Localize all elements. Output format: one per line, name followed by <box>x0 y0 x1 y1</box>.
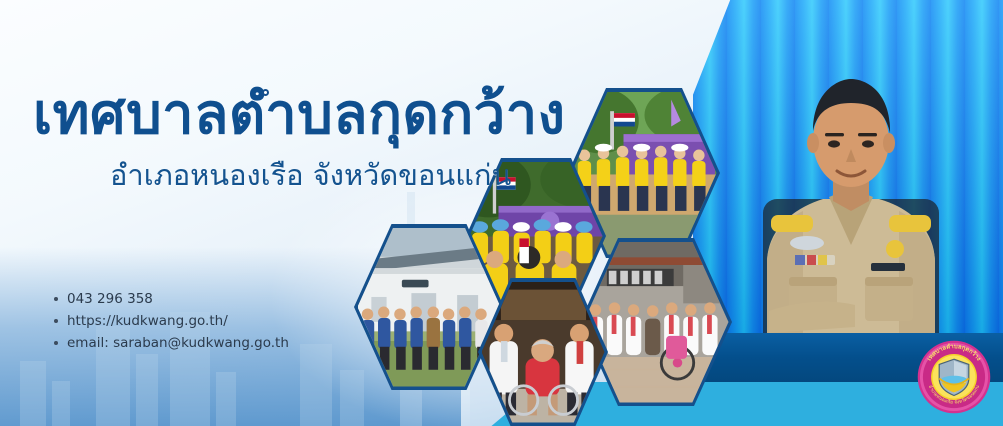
hexagon-photo-collage <box>0 0 1003 426</box>
municipality-seal-logo: เทศบาลตำบลกุดกว้าง อำเภอหนองเรือ จังหวัด… <box>917 340 991 414</box>
hex-photo-right <box>580 238 732 406</box>
decorative-dot-icon <box>262 89 269 96</box>
banner-root: เทศบาลตำบลกุดกว้าง อำเภอหนองเรือ จังหวัด… <box>0 0 1003 426</box>
contact-list: 043 296 358 https://kudkwang.go.th/ emai… <box>52 288 289 354</box>
contact-website[interactable]: https://kudkwang.go.th/ <box>52 310 289 332</box>
page-title: เทศบาลตำบลกุดกว้าง <box>33 86 566 145</box>
contact-email[interactable]: email: saraban@kudkwang.go.th <box>52 332 289 354</box>
contact-phone: 043 296 358 <box>52 288 289 310</box>
page-subtitle: อำเภอหนองเรือ จังหวัดขอนแก่น <box>110 158 511 193</box>
